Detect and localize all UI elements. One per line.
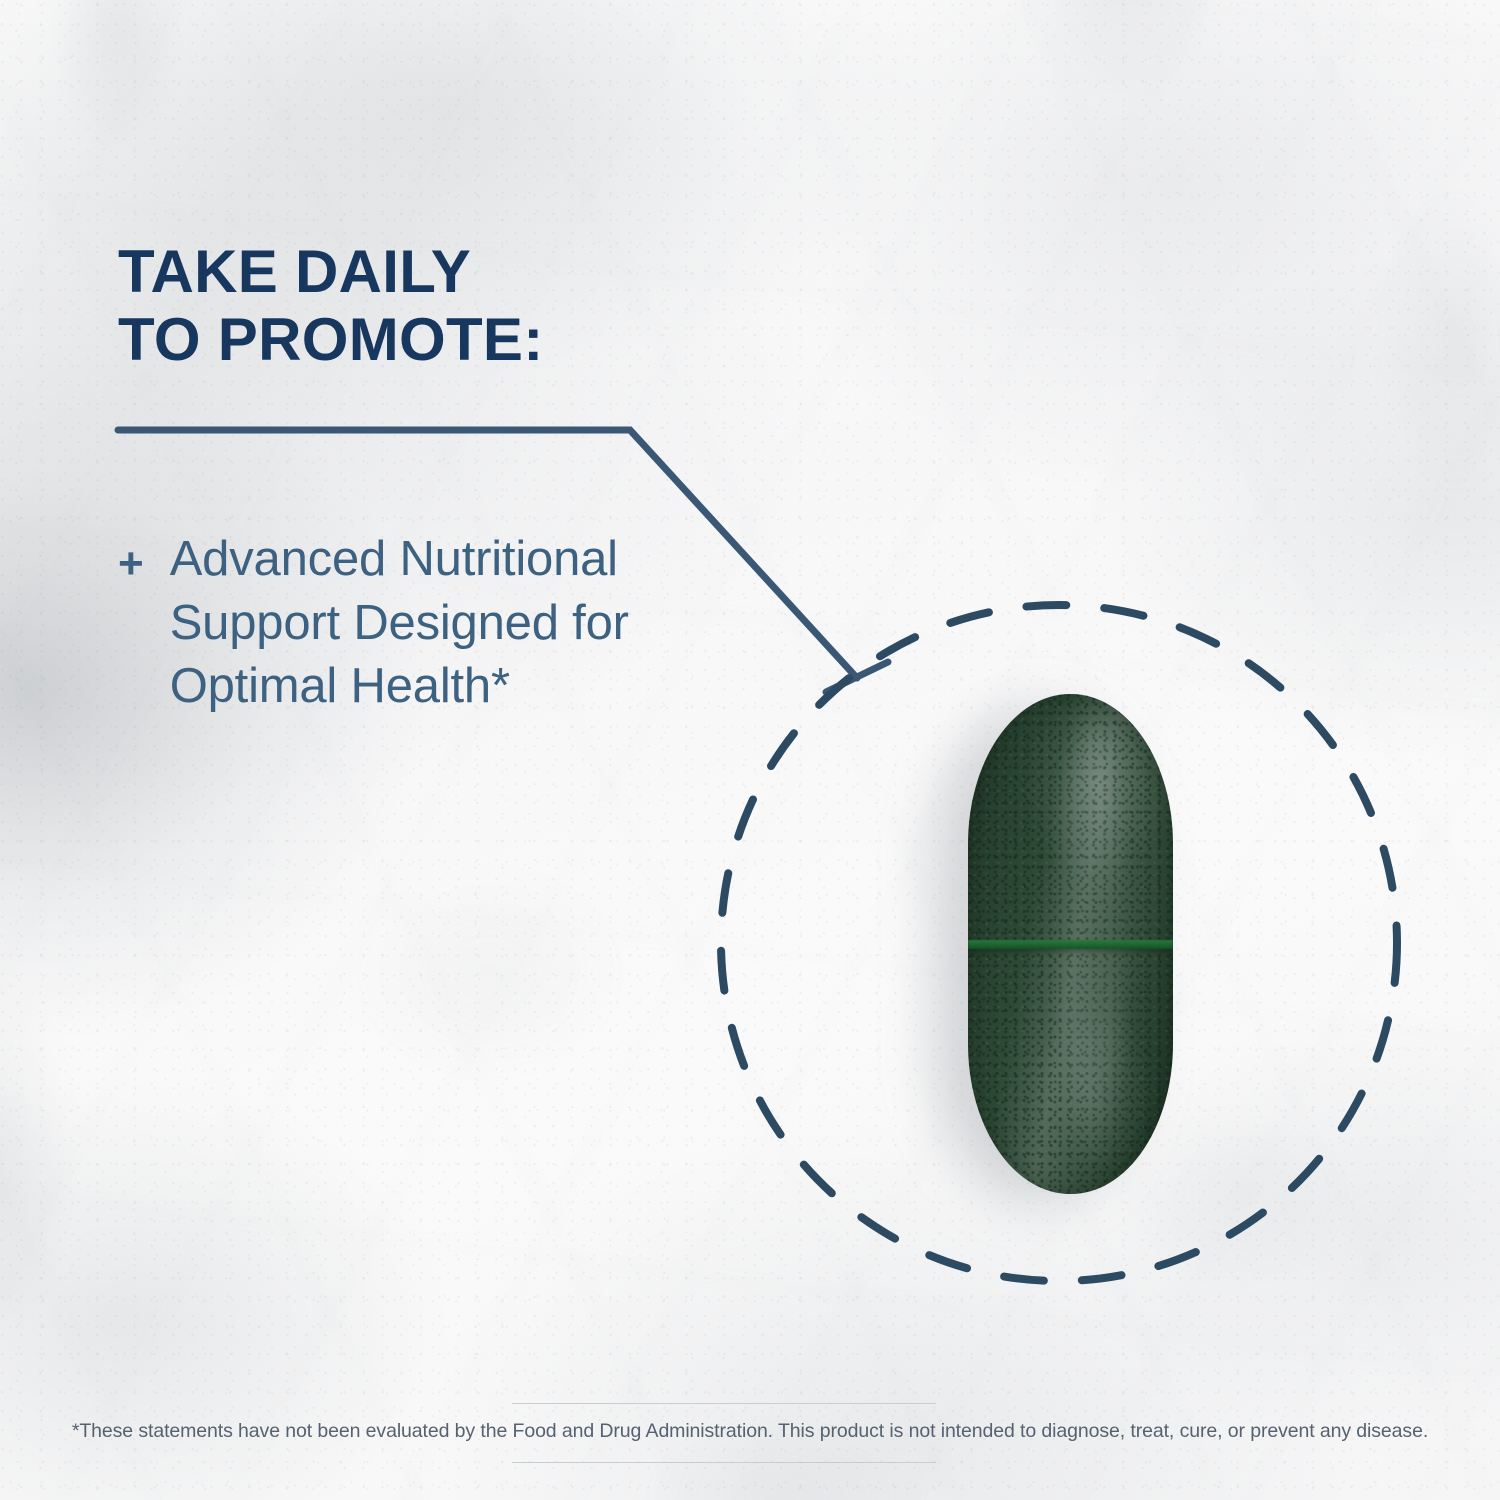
fda-disclaimer: *These statements have not been evaluate…: [0, 1420, 1500, 1443]
tablet-score-line: [968, 940, 1173, 949]
tablet-body: [968, 694, 1173, 1194]
benefit-list-item: + Advanced Nutritional Support Designed …: [118, 528, 738, 719]
divider-bottom: [512, 1462, 936, 1463]
divider-top: [512, 1403, 936, 1404]
headline-line-1: TAKE DAILY: [118, 238, 818, 306]
headline-line-2: TO PROMOTE:: [118, 306, 818, 374]
plus-icon: +: [118, 528, 144, 586]
page-title: TAKE DAILY TO PROMOTE:: [118, 238, 818, 375]
product-tablet: [968, 694, 1173, 1194]
benefit-text: Advanced Nutritional Support Designed fo…: [170, 528, 738, 719]
product-infographic: TAKE DAILY TO PROMOTE: + Advanced Nutrit…: [0, 0, 1500, 1500]
